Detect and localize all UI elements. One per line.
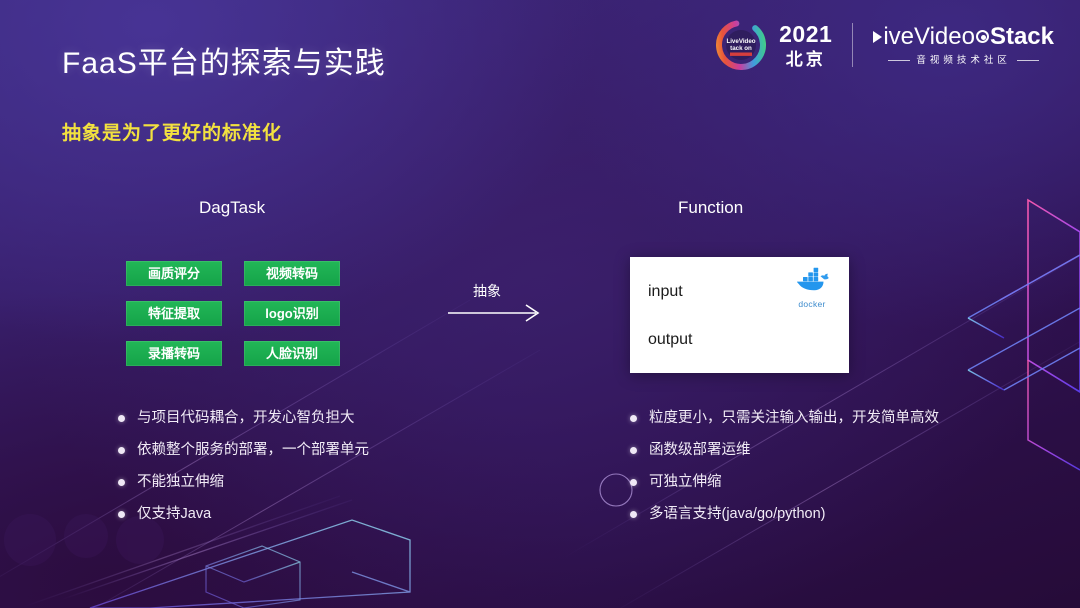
bullet-text: 不能独立伸缩 [137, 473, 224, 491]
docker-caption: docker [785, 299, 839, 309]
tag-item[interactable]: 录播转码 [126, 341, 222, 366]
list-item: 依赖整个服务的部署，一个部署单元 [118, 441, 369, 459]
bullet-dot-icon [118, 479, 125, 486]
list-item: 与项目代码耦合，开发心智负担大 [118, 409, 369, 427]
function-column-heading: Function [678, 198, 743, 218]
function-input-label: input [648, 283, 683, 301]
bullet-text: 粒度更小，只需关注输入输出，开发简单高效 [649, 409, 939, 427]
tag-item[interactable]: logo识别 [244, 301, 340, 326]
tag-item[interactable]: 视频转码 [244, 261, 340, 286]
circle-outline-decoration [600, 474, 632, 506]
conference-year: 2021 [779, 23, 832, 46]
docker-logo: docker [785, 265, 839, 309]
right-arrow-icon [448, 301, 548, 327]
bullet-text: 可独立伸缩 [649, 473, 722, 491]
abstraction-arrow-group: 抽象 [448, 285, 548, 325]
bullet-text: 函数级部署运维 [649, 441, 751, 459]
svg-text:tack on: tack on [730, 45, 752, 52]
list-item: 粒度更小，只需关注输入输出，开发简单高效 [630, 409, 939, 427]
function-card: input output docker [630, 257, 849, 373]
livevideostack-wordmark: iveVideoStack 音视频技术社区 [873, 25, 1054, 66]
tagline-rule-left [888, 60, 910, 61]
list-item: 仅支持Java [118, 505, 369, 523]
bullet-dot-icon [630, 447, 637, 454]
wordmark-part-video: Video [914, 25, 975, 49]
list-item: 函数级部署运维 [630, 441, 939, 459]
page-subtitle: 抽象是为了更好的标准化 [62, 118, 282, 145]
tag-item[interactable]: 画质评分 [126, 261, 222, 286]
brand-header: LiveVideo tack on 2021 北京 iveVideoStack … [713, 16, 1054, 74]
dagtask-column-heading: DagTask [199, 198, 265, 218]
conference-city: 北京 [779, 51, 832, 68]
tag-item[interactable]: 特征提取 [126, 301, 222, 326]
list-item: 多语言支持(java/go/python) [630, 505, 939, 523]
tag-item[interactable]: 人脸识别 [244, 341, 340, 366]
bullet-text: 仅支持Java [137, 505, 211, 523]
circle-dot-icon [976, 30, 989, 43]
wordmark-part-ive: ive [883, 25, 914, 49]
bullet-dot-icon [630, 415, 637, 422]
svg-text:LiveVideo: LiveVideo [727, 38, 756, 45]
abstraction-arrow-label: 抽象 [473, 281, 501, 301]
function-output-label: output [648, 331, 692, 349]
bullet-dot-icon [630, 511, 637, 518]
bullet-dot-icon [118, 511, 125, 518]
tagline-rule-right [1017, 60, 1039, 61]
brand-tagline: 音视频技术社区 [916, 56, 1011, 66]
bullet-text: 与项目代码耦合，开发心智负担大 [137, 409, 355, 427]
dagtask-bullet-list: 与项目代码耦合，开发心智负担大 依赖整个服务的部署，一个部署单元 不能独立伸缩 … [118, 409, 369, 538]
livevideostack-ring-logo-icon: LiveVideo tack on [713, 17, 769, 73]
brand-divider [852, 23, 853, 67]
bullet-dot-icon [118, 415, 125, 422]
slide-canvas: FaaS平台的探索与实践 抽象是为了更好的标准化 LiveVideo [0, 0, 1080, 608]
bullet-text: 多语言支持(java/go/python) [649, 505, 825, 523]
dagtask-tag-grid: 画质评分 视频转码 特征提取 logo识别 录播转码 人脸识别 [126, 261, 366, 366]
bullet-dot-icon [630, 479, 637, 486]
play-triangle-icon [873, 31, 882, 43]
bullet-dot-icon [118, 447, 125, 454]
page-title: FaaS平台的探索与实践 [62, 38, 386, 82]
function-bullet-list: 粒度更小，只需关注输入输出，开发简单高效 函数级部署运维 可独立伸缩 多语言支持… [630, 409, 939, 538]
list-item: 可独立伸缩 [630, 473, 939, 491]
docker-whale-icon [792, 265, 832, 295]
wordmark-part-stack: Stack [990, 25, 1054, 49]
bullet-text: 依赖整个服务的部署，一个部署单元 [137, 441, 369, 459]
list-item: 不能独立伸缩 [118, 473, 369, 491]
conference-year-city: 2021 北京 [779, 23, 832, 68]
